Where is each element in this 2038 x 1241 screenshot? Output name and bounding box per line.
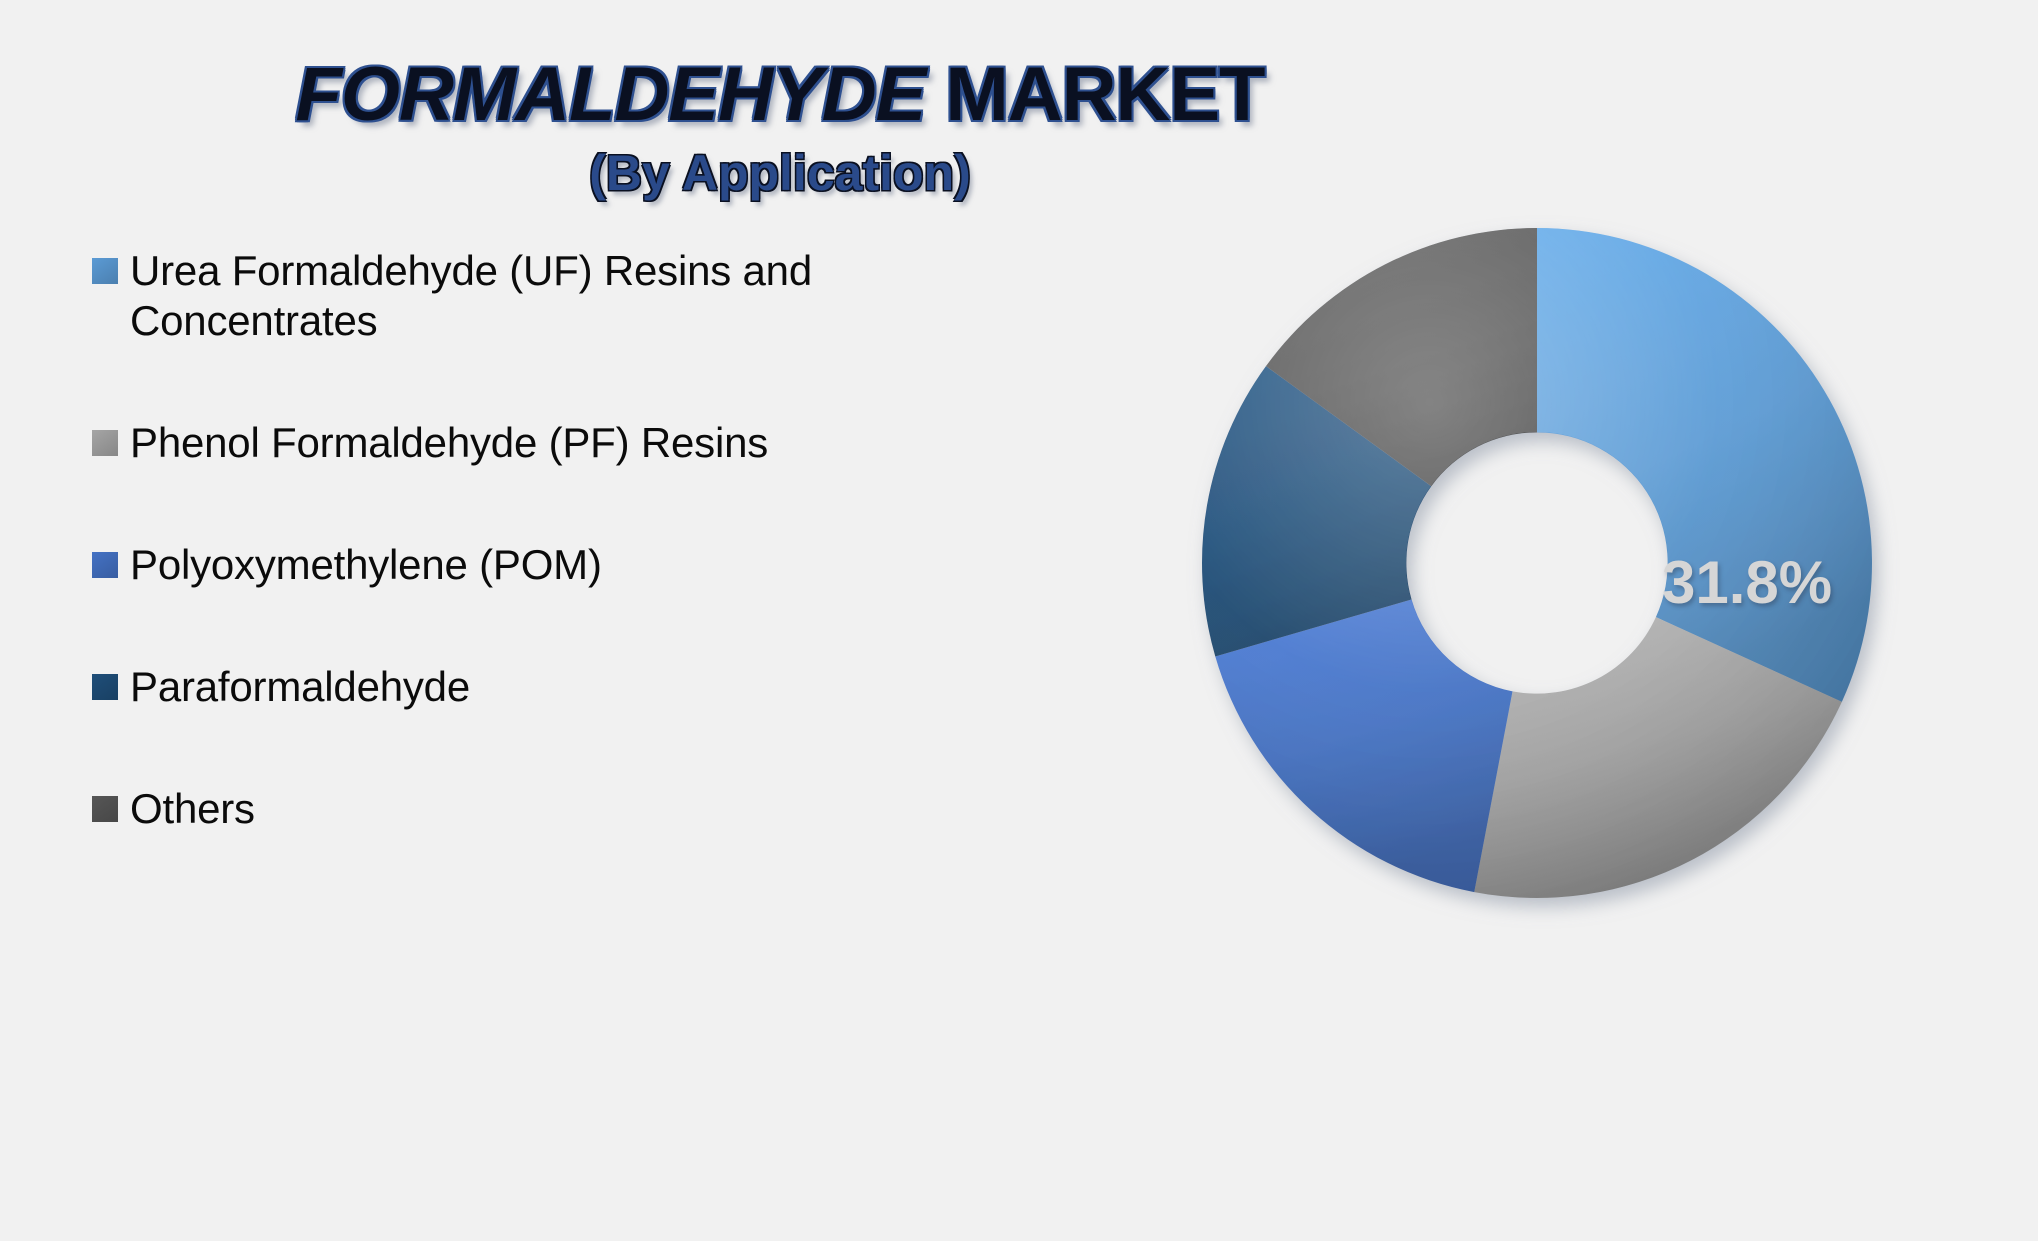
- legend-item-label: Phenol Formaldehyde (PF) Resins: [130, 418, 768, 468]
- donut-slice[interactable]: [1537, 228, 1872, 702]
- page-subtitle: (By Application): [0, 144, 1560, 202]
- legend-item-label: Paraformaldehyde: [130, 662, 470, 712]
- legend-item-label: Polyoxymethylene (POM): [130, 540, 602, 590]
- legend-item[interactable]: Phenol Formaldehyde (PF) Resins: [92, 418, 852, 468]
- page-title: FORMALDEHYDE MARKET: [0, 52, 1560, 138]
- chart-legend: Urea Formaldehyde (UF) Resins and Concen…: [92, 246, 852, 906]
- legend-item-label: Others: [130, 784, 255, 834]
- legend-swatch-icon: [92, 552, 118, 578]
- title-emphasis: FORMALDEHYDE: [296, 52, 926, 137]
- legend-item[interactable]: Others: [92, 784, 852, 834]
- legend-swatch-icon: [92, 258, 118, 284]
- legend-item[interactable]: Urea Formaldehyde (UF) Resins and Concen…: [92, 246, 852, 346]
- data-label-uf-resins: 31.8%: [1662, 548, 1832, 617]
- legend-swatch-icon: [92, 674, 118, 700]
- legend-item-label: Urea Formaldehyde (UF) Resins and Concen…: [130, 246, 852, 346]
- title-rest: MARKET: [925, 52, 1264, 137]
- legend-item[interactable]: Polyoxymethylene (POM): [92, 540, 852, 590]
- legend-item[interactable]: Paraformaldehyde: [92, 662, 852, 712]
- legend-swatch-icon: [92, 430, 118, 456]
- title-block: FORMALDEHYDE MARKET (By Application): [0, 52, 1560, 202]
- legend-swatch-icon: [92, 796, 118, 822]
- donut-chart: 31.8%: [1192, 218, 1882, 908]
